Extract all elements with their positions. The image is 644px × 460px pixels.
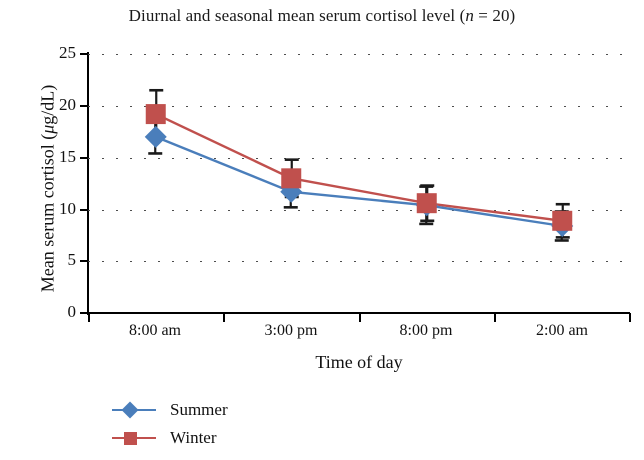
series-line-winter	[156, 114, 563, 221]
legend-item-winter[interactable]: Winter	[112, 424, 228, 452]
legend-label-winter: Winter	[170, 428, 217, 448]
legend-label-summer: Summer	[170, 400, 228, 420]
series-plot-layer	[0, 0, 644, 460]
marker-square-winter-2	[417, 193, 437, 213]
legend-item-summer[interactable]: Summer	[112, 396, 228, 424]
marker-square-winter-1	[281, 168, 301, 188]
marker-square-winter-0	[146, 104, 166, 124]
chart-figure: Diurnal and seasonal mean serum cortisol…	[0, 0, 644, 460]
legend-key-winter	[112, 429, 156, 447]
chart-legend: Summer Winter	[112, 396, 228, 452]
diamond-icon	[122, 402, 139, 419]
marker-square-winter-3	[552, 211, 572, 231]
marker-diamond-summer-0	[145, 126, 167, 148]
square-icon	[124, 432, 137, 445]
legend-key-summer	[112, 401, 156, 419]
